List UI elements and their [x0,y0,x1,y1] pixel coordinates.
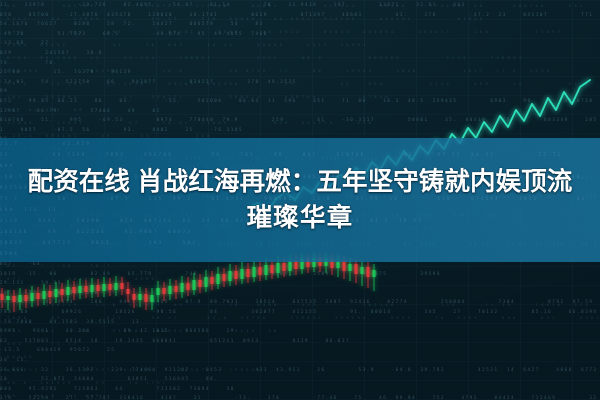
banner-image: 12 23978 -29.726 82.4695 -54.07 81.14 70… [0,0,600,400]
headline-line-1: 配资在线 肖战红海再燃：五年坚守铸就内娱顶流 [28,169,573,196]
headline-line-2: 璀璨华章 [247,205,354,232]
headline: 配资在线 肖战红海再燃：五年坚守铸就内娱顶流 璀璨华章 [0,138,600,262]
